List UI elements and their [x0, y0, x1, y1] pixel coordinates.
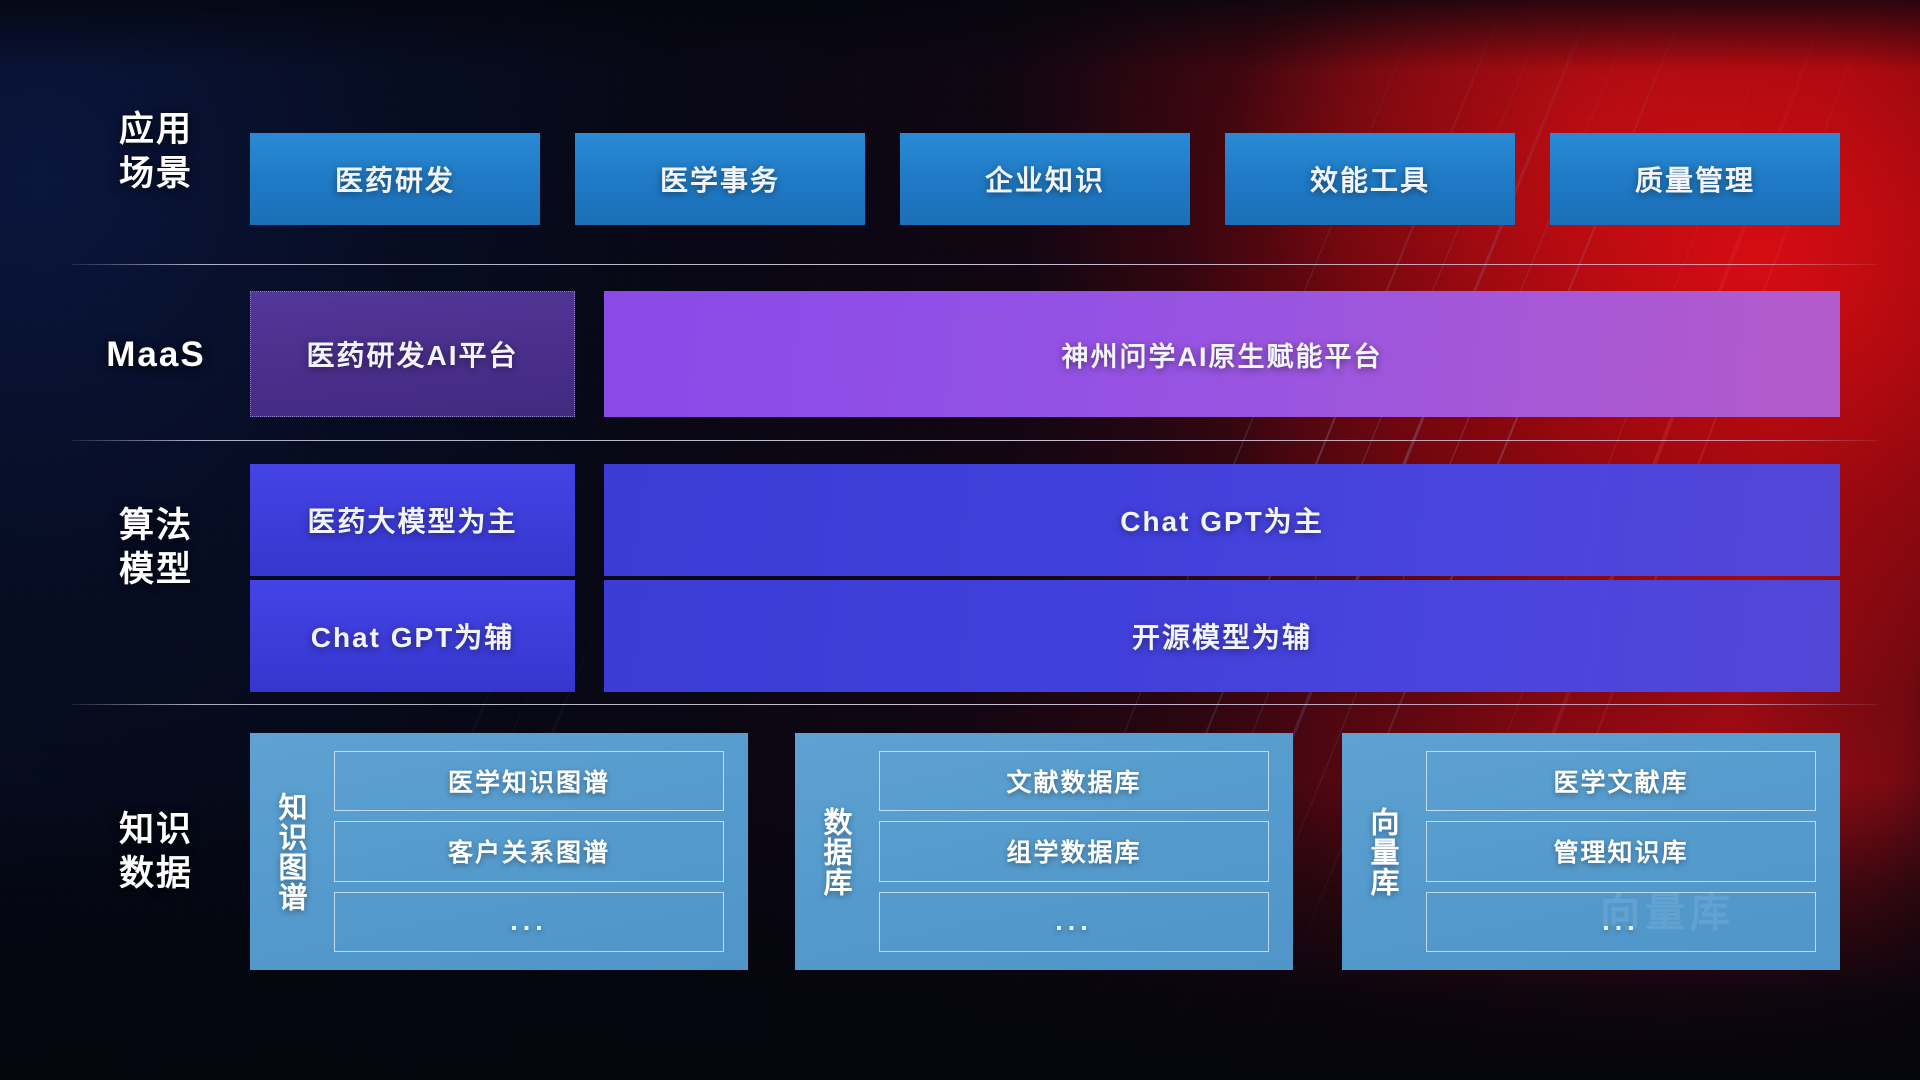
app-box-label: 质量管理	[1635, 159, 1755, 199]
app-box-label: 医学事务	[660, 159, 780, 199]
app-box-medical-affairs[interactable]: 医学事务	[575, 133, 865, 225]
slide-canvas: 应用 场景 医药研发 医学事务 企业知识 效能工具 质量管理 MaaS 医药研发…	[0, 0, 1920, 1080]
algo-box-label: Chat GPT为主	[1120, 500, 1324, 540]
algo-box-chatgpt-primary[interactable]: Chat GPT为主	[604, 464, 1840, 576]
row-label-algorithm: 算法 模型	[72, 504, 240, 592]
divider-after-algorithm	[72, 704, 1878, 705]
app-box-label: 企业知识	[985, 159, 1105, 199]
app-box-label: 效能工具	[1310, 159, 1430, 199]
knowledge-group-vector-store[interactable]: 向量库 医学文献库 管理知识库 ...	[1342, 733, 1840, 970]
knowledge-item[interactable]: 医学文献库	[1426, 751, 1816, 811]
divider-after-application	[72, 264, 1878, 265]
algo-box-label: 开源模型为辅	[1132, 616, 1312, 656]
algo-box-chatgpt-secondary[interactable]: Chat GPT为辅	[250, 580, 575, 692]
app-box-medicine-rd[interactable]: 医药研发	[250, 133, 540, 225]
knowledge-group-knowledge-graph[interactable]: 知识图谱 医学知识图谱 客户关系图谱 ...	[250, 733, 748, 970]
divider-after-maas	[72, 440, 1878, 441]
row-label-maas: MaaS	[72, 333, 240, 377]
knowledge-group-title: 知识图谱	[262, 747, 318, 956]
algo-box-pharma-llm-primary[interactable]: 医药大模型为主	[250, 464, 575, 576]
app-box-quality-management[interactable]: 质量管理	[1550, 133, 1840, 225]
maas-box-label: 神州问学AI原生赋能平台	[1062, 335, 1383, 374]
knowledge-item[interactable]: 客户关系图谱	[334, 821, 724, 881]
knowledge-group-database[interactable]: 数据库 文献数据库 组学数据库 ...	[795, 733, 1293, 970]
algo-box-label: Chat GPT为辅	[311, 616, 515, 656]
maas-box-pharma-ai-platform[interactable]: 医药研发AI平台	[250, 291, 575, 417]
knowledge-item-more[interactable]: ...	[334, 892, 724, 952]
maas-box-label: 医药研发AI平台	[306, 334, 518, 374]
knowledge-group-title: 向量库	[1354, 747, 1410, 956]
knowledge-item-list: 医学知识图谱 客户关系图谱 ...	[318, 747, 734, 956]
knowledge-item-list: 医学文献库 管理知识库 ...	[1410, 747, 1826, 956]
app-box-efficiency-tools[interactable]: 效能工具	[1225, 133, 1515, 225]
row-label-application: 应用 场景	[72, 108, 240, 196]
app-box-label: 医药研发	[335, 159, 455, 199]
app-box-enterprise-knowledge[interactable]: 企业知识	[900, 133, 1190, 225]
knowledge-item[interactable]: 管理知识库	[1426, 821, 1816, 881]
diagram-content: 应用 场景 医药研发 医学事务 企业知识 效能工具 质量管理 MaaS 医药研发…	[0, 0, 1920, 1080]
knowledge-item[interactable]: 医学知识图谱	[334, 751, 724, 811]
maas-box-shenzhou-wenxue-platform[interactable]: 神州问学AI原生赋能平台	[604, 291, 1840, 417]
algo-box-opensource-secondary[interactable]: 开源模型为辅	[604, 580, 1840, 692]
row-label-knowledge: 知识 数据	[72, 808, 240, 896]
knowledge-group-title: 数据库	[807, 747, 863, 956]
knowledge-item-list: 文献数据库 组学数据库 ...	[863, 747, 1279, 956]
knowledge-item[interactable]: 文献数据库	[879, 751, 1269, 811]
knowledge-item[interactable]: 组学数据库	[879, 821, 1269, 881]
knowledge-item-more[interactable]: ...	[879, 892, 1269, 952]
algo-box-label: 医药大模型为主	[307, 500, 517, 540]
knowledge-item-more[interactable]: ...	[1426, 892, 1816, 952]
